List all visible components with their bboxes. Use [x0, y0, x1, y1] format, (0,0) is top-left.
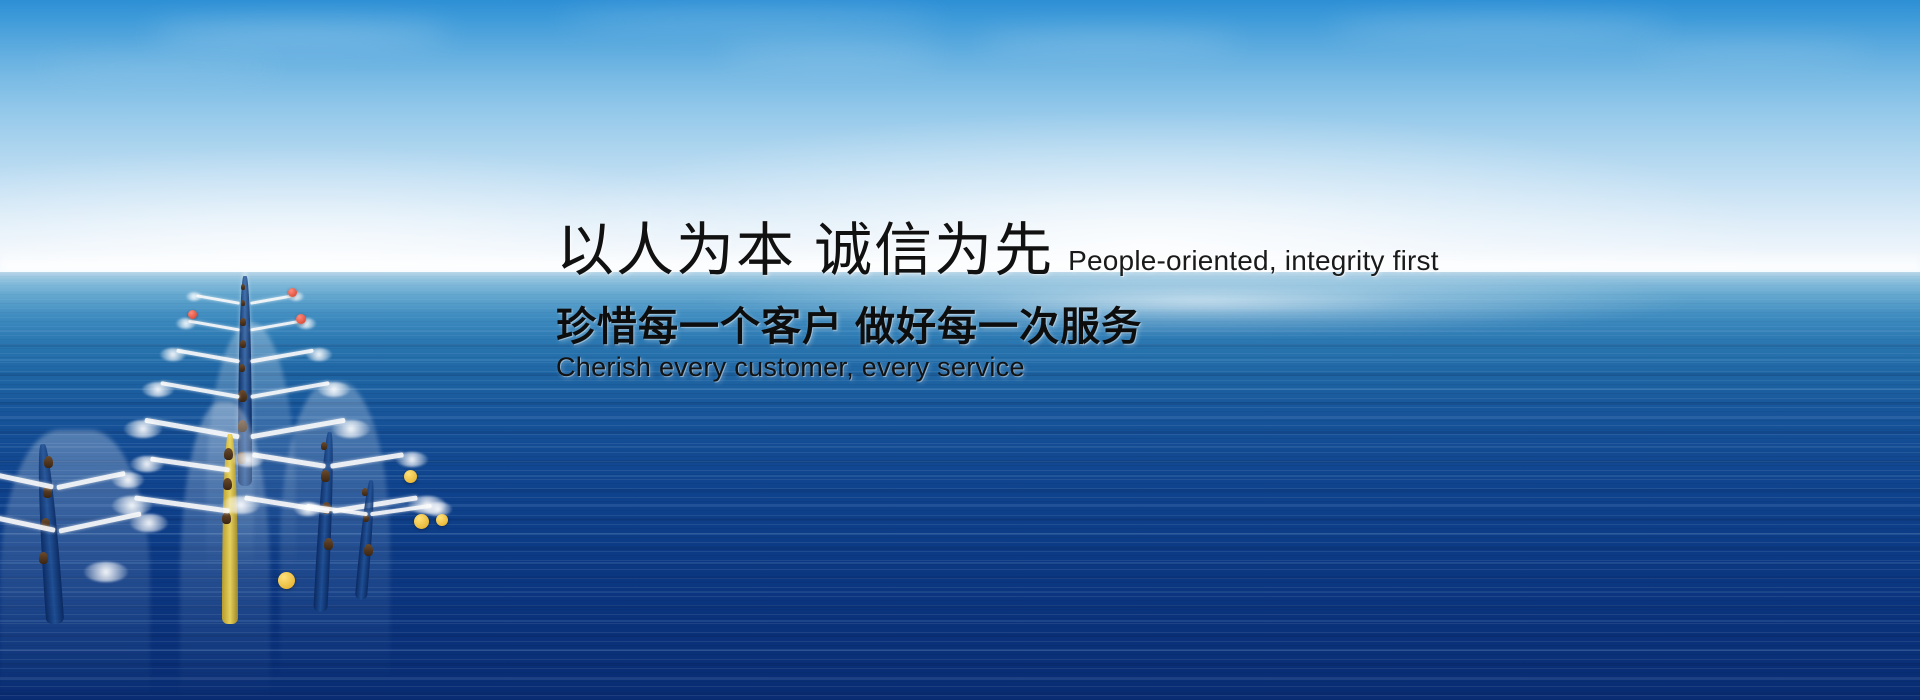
- hero-banner: 以人为本 诚信为先 People-oriented, integrity fir…: [0, 0, 1920, 700]
- boat-wake: [0, 430, 150, 700]
- water-splash: [232, 452, 264, 467]
- water-splash: [142, 382, 174, 397]
- cloud-wisp-icon: [1640, 44, 1870, 58]
- water-splash: [222, 496, 260, 514]
- headline-chinese: 以人为本 诚信为先: [556, 222, 1054, 280]
- boat-wake: [280, 382, 390, 682]
- water-splash: [186, 292, 202, 301]
- cloud-wisp-icon: [150, 22, 450, 44]
- water-splash: [396, 452, 428, 467]
- rowing-boats-group: [0, 262, 620, 700]
- rower-figure: [240, 318, 246, 326]
- oar: [196, 294, 240, 305]
- rower-figure: [240, 340, 246, 348]
- subline-english: Cherish every customer, every service: [556, 352, 1886, 383]
- rower-figure: [241, 284, 245, 290]
- rower-figure: [364, 544, 373, 556]
- water-splash: [130, 514, 168, 532]
- rower-figure: [44, 456, 53, 468]
- rower-figure: [39, 552, 48, 564]
- lane-buoy-icon: [414, 514, 429, 529]
- subline-chinese: 珍惜每一个客户 做好每一次服务: [556, 306, 1886, 348]
- rower-figure: [362, 488, 368, 496]
- water-splash: [84, 562, 128, 582]
- lane-buoy-marker-icon: [288, 288, 297, 297]
- water-splash: [124, 420, 162, 438]
- headline-row: 以人为本 诚信为先 People-oriented, integrity fir…: [556, 222, 1886, 280]
- lane-buoy-marker-icon: [188, 310, 197, 319]
- cloud-wisp-icon: [720, 48, 940, 60]
- water-splash: [160, 348, 186, 361]
- oar: [188, 320, 240, 332]
- water-splash: [306, 348, 332, 361]
- rower-figure: [222, 512, 231, 524]
- cloud-wisp-icon: [980, 34, 1240, 50]
- lane-buoy-icon: [278, 572, 295, 589]
- headline-english: People-oriented, integrity first: [1068, 245, 1439, 277]
- water-splash: [112, 472, 144, 488]
- water-splash: [130, 456, 164, 472]
- water-splash: [294, 502, 322, 516]
- rower-figure: [321, 442, 327, 450]
- cloud-wisp-icon: [560, 10, 940, 28]
- lane-buoy-icon: [404, 470, 417, 483]
- lane-buoy-icon: [436, 514, 448, 526]
- rower-figure: [239, 364, 245, 372]
- rower-figure: [241, 300, 245, 306]
- slogan-text-block: 以人为本 诚信为先 People-oriented, integrity fir…: [556, 222, 1886, 383]
- water-splash: [176, 318, 196, 329]
- rower-figure: [223, 478, 232, 490]
- rower-figure: [321, 470, 330, 482]
- cloud-wisp-icon: [40, 60, 280, 72]
- lane-buoy-marker-icon: [296, 314, 306, 324]
- rower-figure: [324, 538, 333, 550]
- cloud-wisp-icon: [1330, 18, 1670, 38]
